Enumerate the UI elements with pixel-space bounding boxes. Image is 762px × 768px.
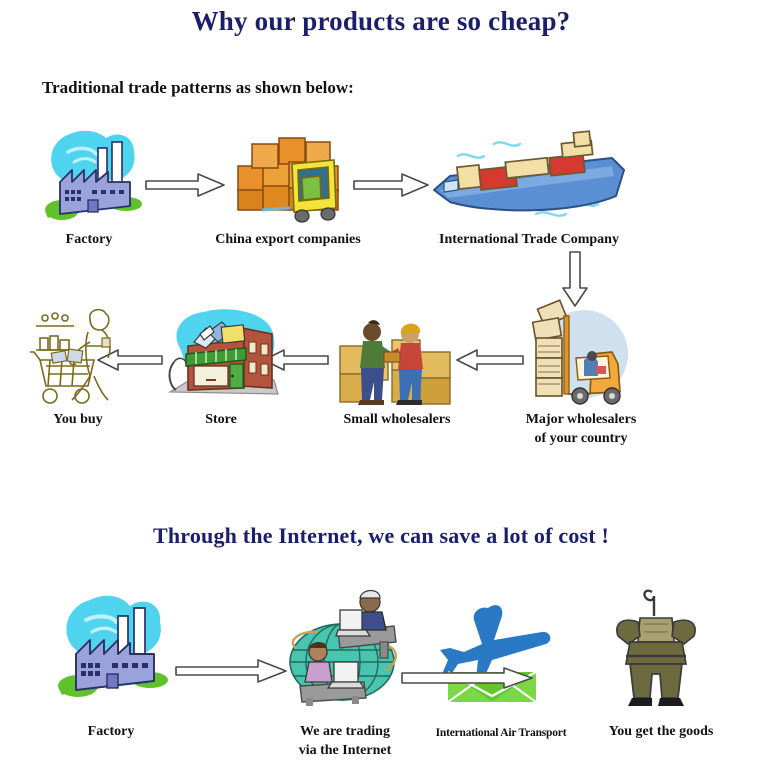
- boxes-truck-icon: [232, 128, 354, 224]
- arrow-major-to-small-icon: [455, 348, 525, 372]
- label-international-trade-company: International Trade Company: [404, 230, 654, 249]
- factory-icon: [38, 122, 144, 224]
- label-international-air-transport: International Air Transport: [422, 724, 580, 743]
- factory-internet-icon: [52, 588, 170, 702]
- label-you-get-the-goods: You get the goods: [584, 722, 738, 741]
- label-factory: Factory: [30, 230, 148, 249]
- arrow-trading-to-goods-icon: [400, 666, 534, 690]
- shopper-cart-icon: [28, 302, 134, 406]
- label-major-wholesalers: Major wholesalers of your country: [490, 410, 672, 448]
- plane-envelope-icon: [424, 598, 564, 710]
- cargo-ship-icon: [424, 130, 636, 226]
- infographic-canvas: Why our products are so cheap? Tradition…: [0, 0, 762, 768]
- forklift-crates-icon: [522, 298, 638, 406]
- label-china-export-companies: China export companies: [178, 230, 398, 249]
- arrow-factory-to-export-icon: [144, 172, 226, 198]
- label-we-are-trading: We are trading via the Internet: [270, 722, 420, 760]
- page-title: Why our products are so cheap?: [0, 6, 762, 37]
- arrow-export-to-trade-icon: [352, 172, 430, 198]
- label-factory-internet: Factory: [54, 722, 168, 741]
- label-small-wholesalers: Small wholesalers: [312, 410, 482, 429]
- store-building-icon: [160, 302, 284, 406]
- globe-computers-icon: [282, 586, 408, 708]
- traditional-section-subtitle: Traditional trade patterns as shown belo…: [42, 78, 354, 98]
- arrow-factory-to-trading-icon: [174, 658, 288, 684]
- person-with-box-icon: [600, 586, 710, 712]
- label-you-buy: You buy: [22, 410, 134, 429]
- internet-section-title: Through the Internet, we can save a lot …: [0, 523, 762, 549]
- two-workers-boxes-icon: [332, 312, 462, 408]
- label-store: Store: [166, 410, 276, 429]
